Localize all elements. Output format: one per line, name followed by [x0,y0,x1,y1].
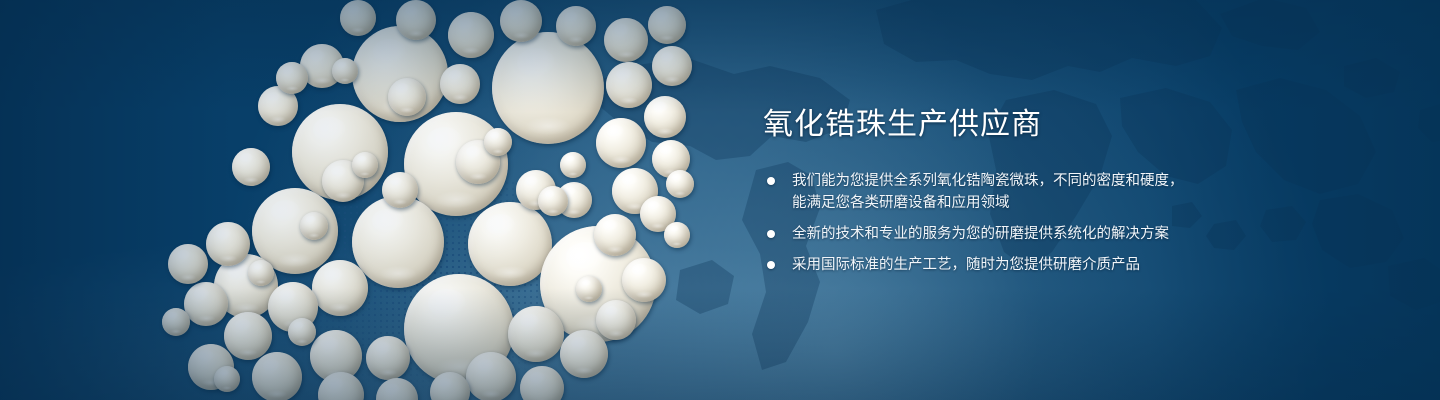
bullet-line: 采用国际标准的生产工艺，随时为您提供研磨介质产品 [792,254,1184,276]
product-hero-banner: 氧化锆珠生产供应商 我们能为您提供全系列氧化锆陶瓷微珠，不同的密度和硬度， 能满… [0,0,1440,400]
bullet-dot-icon [767,177,775,185]
list-item: 我们能为您提供全系列氧化锆陶瓷微珠，不同的密度和硬度， 能满足您各类研磨设备和应… [765,170,1184,214]
bullet-line: 我们能为您提供全系列氧化锆陶瓷微珠，不同的密度和硬度， [792,170,1184,192]
bullet-line: 能满足您各类研磨设备和应用领域 [792,192,1184,214]
bullet-dot-icon [767,230,775,238]
bullet-dot-icon [767,261,775,269]
bullet-line: 全新的技术和专业的服务为您的研磨提供系统化的解决方案 [792,223,1184,245]
banner-content: 氧化锆珠生产供应商 我们能为您提供全系列氧化锆陶瓷微珠，不同的密度和硬度， 能满… [763,0,1323,400]
banner-headline: 氧化锆珠生产供应商 [763,110,1042,140]
list-item: 全新的技术和专业的服务为您的研磨提供系统化的解决方案 [765,223,1184,245]
banner-feature-list: 我们能为您提供全系列氧化锆陶瓷微珠，不同的密度和硬度， 能满足您各类研磨设备和应… [765,170,1184,276]
list-item: 采用国际标准的生产工艺，随时为您提供研磨介质产品 [765,254,1184,276]
